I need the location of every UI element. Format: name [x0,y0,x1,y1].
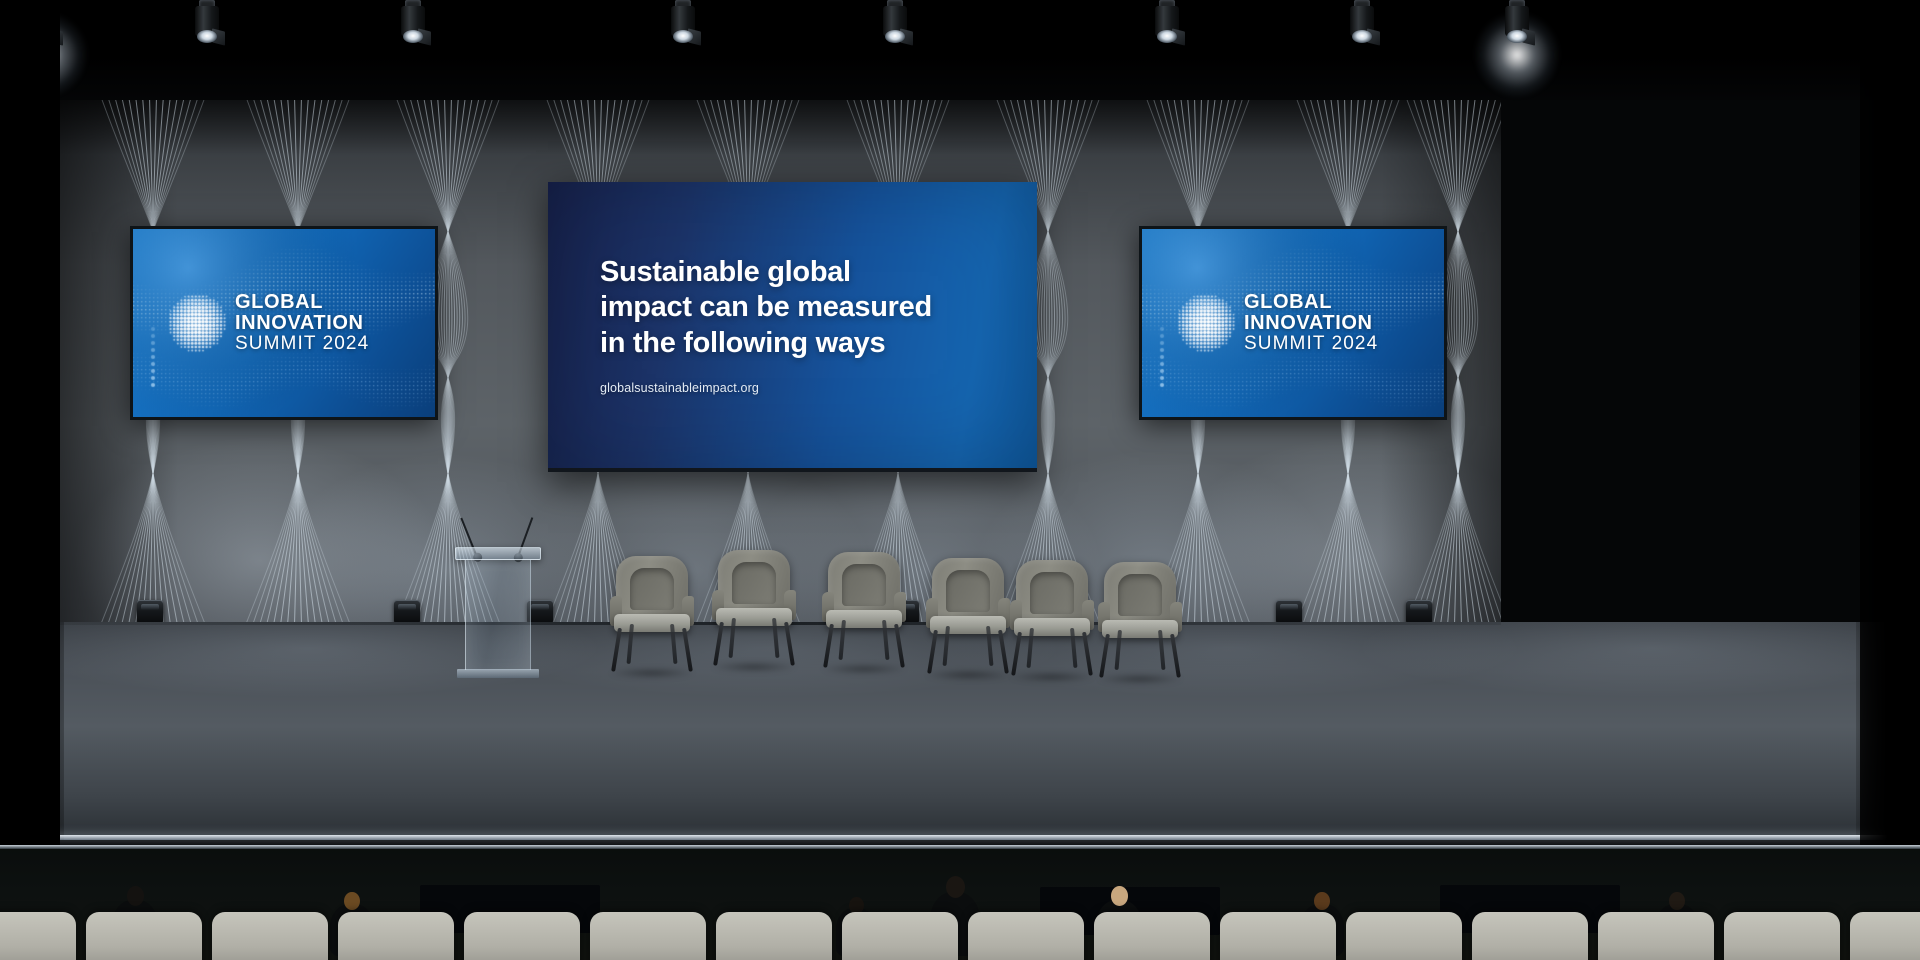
chair-leg [784,622,795,666]
summit-brand-line1: GLOBAL [235,292,369,313]
podium[interactable] [455,529,541,683]
stage-spotlight [1150,0,1184,52]
chair-back [1104,562,1176,624]
stage-spotlight [396,0,430,52]
audience-member-head [946,876,965,898]
panel-chair[interactable] [610,556,694,680]
slide-headline-line3: in the following ways [600,326,985,361]
slide-headline-line2: impact can be measured [600,290,985,325]
chair-shadow [1008,672,1096,682]
side-screen-right-text: GLOBAL INNOVATION SUMMIT 2024 [1244,292,1378,354]
chair-seat [716,608,792,626]
audience-seat [716,912,832,960]
slide-headline-line1: Sustainable global [600,255,985,290]
panel-chair[interactable] [1010,560,1094,684]
stage-uplight [137,600,163,624]
chair-shadow [924,670,1012,680]
side-screen-left[interactable]: GLOBAL INNOVATION SUMMIT 2024 [130,226,438,420]
chair-back [932,558,1004,620]
audience-seat [590,912,706,960]
stage-curtain-right [1860,0,1920,845]
stage-spotlight [666,0,700,52]
side-screen-right[interactable]: GLOBAL INNOVATION SUMMIT 2024 [1139,226,1447,420]
audience-seat [1850,912,1920,960]
summit-brand-line3: SUMMIT 2024 [235,334,369,354]
dot-sphere-icon [1176,293,1236,353]
audience-seat [968,912,1084,960]
chair-back [718,550,790,612]
ceiling-truss [0,0,1920,100]
slide-url: globalsustainableimpact.org [600,381,985,395]
audience-seat [212,912,328,960]
chair-shadow [710,662,798,672]
chair-back [1016,560,1088,622]
audience-member-head [1669,892,1685,910]
side-screen-left-text: GLOBAL INNOVATION SUMMIT 2024 [235,292,369,354]
chair-back-inner [946,570,990,612]
stage-spotlight [1500,0,1534,52]
chair-seat [1014,618,1090,636]
chair-back-inner [630,568,674,610]
chair-shadow [608,668,696,678]
audience-seat [1724,912,1840,960]
audience-seat [464,912,580,960]
podium-body [465,560,531,670]
chair-leg [998,630,1009,674]
dot-sphere-icon [167,293,227,353]
chair-back [828,552,900,614]
chair-back-inner [842,564,886,606]
summit-brand-line3: SUMMIT 2024 [1244,334,1378,354]
chair-leg [823,624,834,668]
chair-leg [682,628,693,672]
conference-stage-scene: GLOBAL INNOVATION SUMMIT 2024 Sustainabl… [0,0,1920,960]
chair-seat [826,610,902,628]
summit-brand-line2: INNOVATION [235,313,369,334]
audience-member-head [344,892,360,910]
side-screen-left-content: GLOBAL INNOVATION SUMMIT 2024 [133,229,435,417]
main-presentation-screen[interactable]: Sustainable global impact can be measure… [548,182,1037,472]
stage-spotlight [1345,0,1379,52]
stage-uplight [1406,600,1432,624]
audience-area [0,845,1920,960]
stage-front-edge [0,835,1920,840]
chair-seat [614,614,690,632]
stage-spotlight [878,0,912,52]
audience-seat [1094,912,1210,960]
chair-back [616,556,688,618]
audience-seat [1220,912,1336,960]
stage-curtain-left [0,0,60,845]
panel-chair[interactable] [712,550,796,674]
chair-back-inner [732,562,776,604]
panel-chair[interactable] [926,558,1010,682]
chair-back-inner [1118,574,1162,616]
audience-member-head [1314,892,1330,910]
chair-leg [611,628,622,672]
chair-leg [894,624,905,668]
audience-rail [0,845,1920,849]
chair-shadow [1096,674,1184,684]
chair-shadow [820,664,908,674]
audience-seat [1346,912,1462,960]
stage-uplight [394,600,420,624]
summit-brand-line1: GLOBAL [1244,292,1378,313]
slide-headline: Sustainable global impact can be measure… [600,255,985,361]
panel-chair[interactable] [1098,562,1182,686]
audience-member-head [127,886,144,906]
audience-seat [0,912,76,960]
chair-seat [1102,620,1178,638]
panel-chair[interactable] [822,552,906,676]
chair-leg [927,630,938,674]
chair-leg [1099,634,1110,678]
summit-brand-line2: INNOVATION [1244,313,1378,334]
audience-seat [1598,912,1714,960]
chair-leg [1170,634,1181,678]
chair-seat [930,616,1006,634]
chair-back-inner [1030,572,1074,614]
podium-base [457,669,539,678]
audience-seat [86,912,202,960]
side-screen-right-content: GLOBAL INNOVATION SUMMIT 2024 [1142,229,1444,417]
stage-uplight [1276,600,1302,624]
audience-seat [842,912,958,960]
podium-top [455,547,541,560]
audience-member-head [1111,886,1128,906]
chair-leg [1011,632,1022,676]
chair-leg [1082,632,1093,676]
chair-leg [713,622,724,666]
audience-seat [338,912,454,960]
stage-spotlight [190,0,224,52]
audience-seat [1472,912,1588,960]
